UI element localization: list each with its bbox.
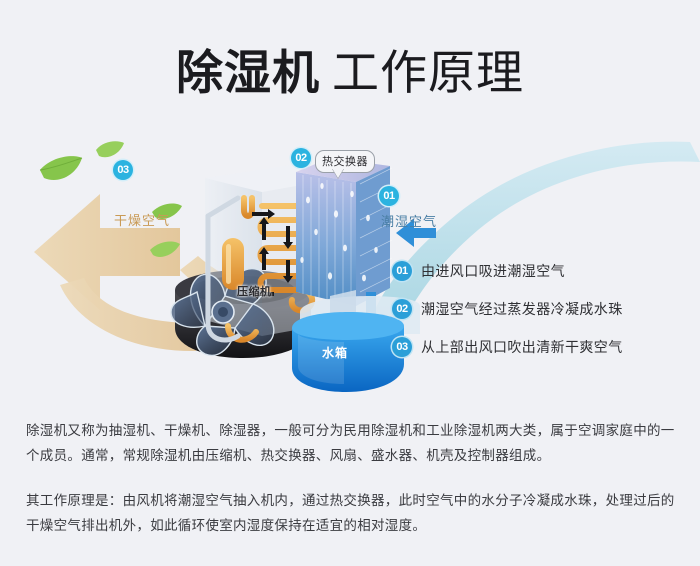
legend-item-03: 03 从上部出风口吹出清新干爽空气 (392, 328, 692, 366)
diagram-badge-02: 02 (291, 148, 311, 168)
legend-list: 01 由进风口吸进潮湿空气 02 潮湿空气经过蒸发器冷凝成水珠 03 从上部出风… (392, 252, 692, 366)
legend-text-03: 从上部出风口吹出清新干爽空气 (421, 337, 623, 357)
legend-item-02: 02 潮湿空气经过蒸发器冷凝成水珠 (392, 290, 692, 328)
legend-text-02: 潮湿空气经过蒸发器冷凝成水珠 (421, 299, 623, 319)
legend-badge-02: 02 (392, 299, 412, 319)
legend-text-01: 由进风口吸进潮湿空气 (421, 261, 565, 281)
legend-badge-03: 03 (392, 337, 412, 357)
page-title-light: 工作原理 (332, 46, 524, 99)
compressor-label: 压缩机 (237, 283, 272, 299)
heat-exchanger-shape (296, 158, 392, 306)
diagram-badge-03: 03 (113, 160, 133, 180)
description-paragraph-1: 除湿机又称为抽湿机、干燥机、除湿器，一般可分为民用除湿机和工业除湿机两大类，属于… (26, 418, 681, 468)
humid-air-label: 潮湿空气 (381, 211, 437, 230)
water-tank-label: 水箱 (322, 344, 348, 361)
description-paragraph-2: 其工作原理是：由风机将潮湿空气抽入机内，通过热交换器，此时空气中的水分子冷凝成水… (26, 488, 681, 538)
diagram-badge-01: 01 (379, 186, 399, 206)
dry-air-label: 干燥空气 (114, 210, 170, 229)
page-title: 除湿机工作原理 (0, 34, 700, 103)
legend-badge-01: 01 (392, 261, 412, 281)
description-block: 除湿机又称为抽湿机、干燥机、除湿器，一般可分为民用除湿机和工业除湿机两大类，属于… (26, 418, 681, 558)
heat-exchanger-callout: 热交换器 (315, 150, 375, 173)
legend-item-01: 01 由进风口吸进潮湿空气 (392, 252, 692, 290)
page-title-strong: 除湿机 (176, 46, 320, 99)
heat-exchanger-callout-tail (332, 168, 344, 178)
